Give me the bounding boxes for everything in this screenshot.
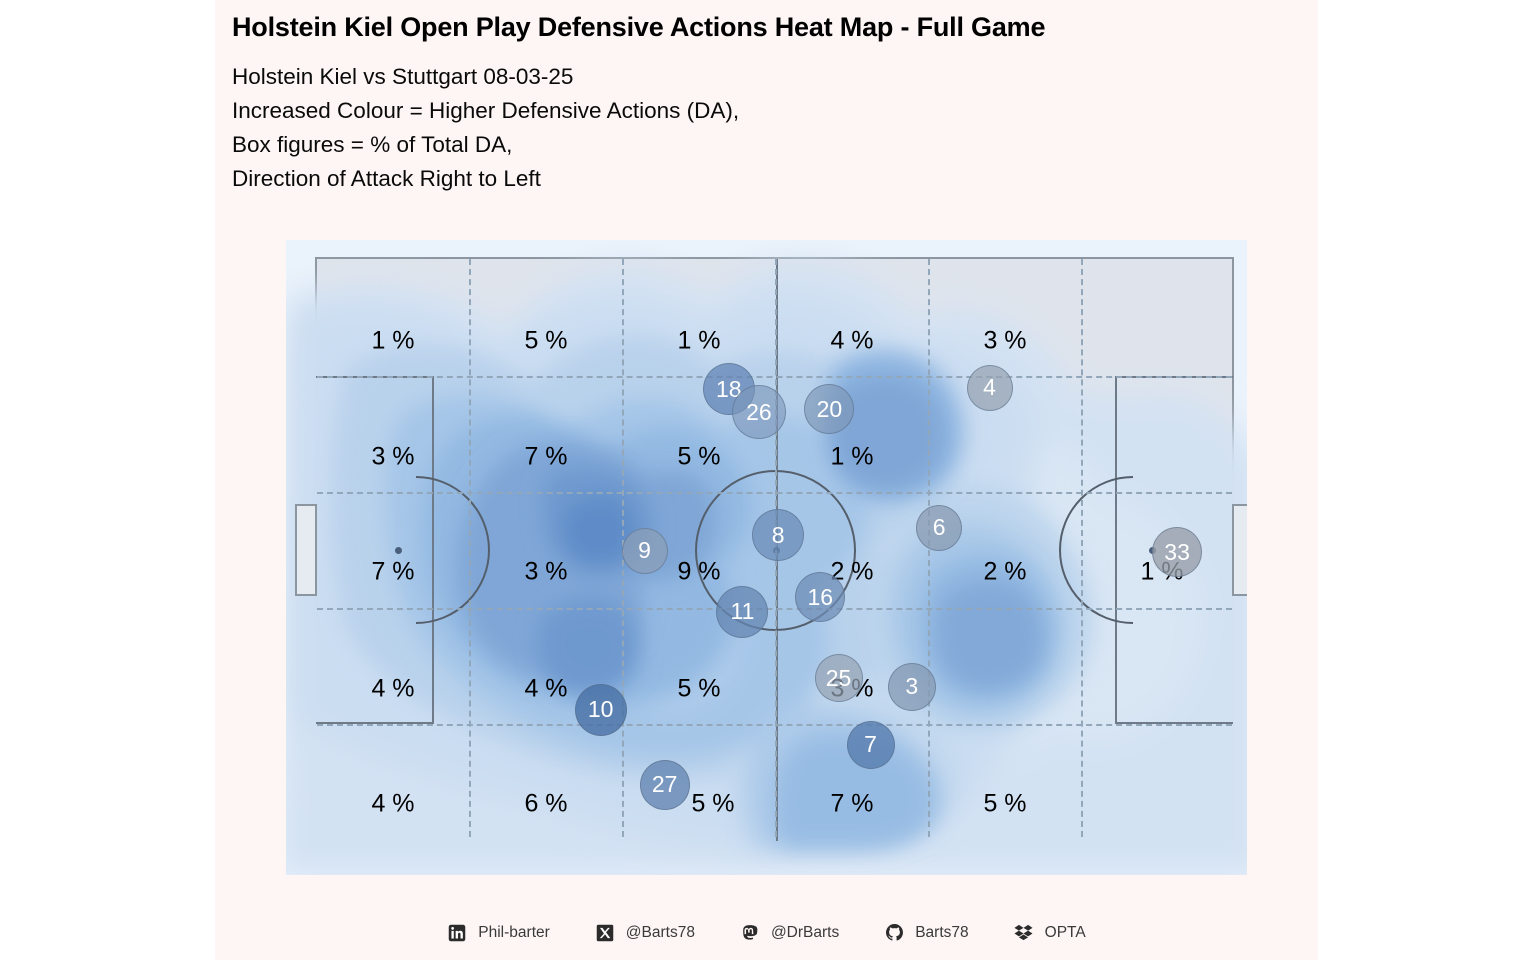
cell-pct-r0c1: 5 % <box>524 327 567 356</box>
footer-item-mastodon[interactable]: @DrBarts <box>740 923 884 943</box>
subtitle-block: Holstein Kiel vs Stuttgart 08-03-25 Incr… <box>232 60 1132 196</box>
player-marker-27[interactable]: 27 <box>640 760 690 810</box>
player-number-11: 11 <box>731 600 755 623</box>
footer-label-github: Barts78 <box>915 924 968 942</box>
linkedin-icon[interactable] <box>447 923 467 943</box>
subtitle-line-2: Increased Colour = Higher Defensive Acti… <box>232 94 1132 128</box>
cell-pct-r2c0: 7 % <box>371 558 414 587</box>
cell-pct-r0c3: 4 % <box>830 327 873 356</box>
footer-label-linkedin: Phil-barter <box>478 924 550 942</box>
cell-pct-r4c4: 5 % <box>983 790 1026 819</box>
cell-pct-r1c1: 7 % <box>524 443 567 472</box>
player-number-9: 9 <box>638 539 651 562</box>
cell-pct-r4c3: 7 % <box>830 790 873 819</box>
footer-label-opta: OPTA <box>1045 924 1086 942</box>
player-number-4: 4 <box>983 376 996 399</box>
x-twitter-icon[interactable] <box>595 923 615 943</box>
grid-line-v-5 <box>1081 259 1083 837</box>
player-number-10: 10 <box>588 698 614 721</box>
subtitle-line-1: Holstein Kiel vs Stuttgart 08-03-25 <box>232 60 1132 94</box>
footer-social-bar: Phil-barter @Barts78 @DrBarts Barts78 OP <box>215 905 1318 960</box>
left-goal <box>295 504 317 596</box>
cell-pct-r3c1: 4 % <box>524 675 567 704</box>
right-goal <box>1232 504 1247 596</box>
player-number-26: 26 <box>746 401 772 424</box>
player-marker-20[interactable]: 20 <box>804 384 854 434</box>
player-number-16: 16 <box>807 586 833 609</box>
player-marker-6[interactable]: 6 <box>916 505 962 551</box>
player-marker-4[interactable]: 4 <box>967 365 1013 411</box>
player-marker-33[interactable]: 33 <box>1152 527 1202 577</box>
player-number-25: 25 <box>826 667 852 690</box>
grid-line-h-2 <box>317 492 1232 494</box>
page-title: Holstein Kiel Open Play Defensive Action… <box>232 12 1302 43</box>
left-penalty-spot <box>395 547 402 554</box>
cell-pct-r2c2: 9 % <box>677 558 720 587</box>
footer-label-x: @Barts78 <box>626 924 695 942</box>
footer-item-linkedin[interactable]: Phil-barter <box>447 923 595 943</box>
cell-pct-r2c1: 3 % <box>524 558 567 587</box>
player-marker-26[interactable]: 26 <box>732 385 786 439</box>
github-icon[interactable] <box>884 923 904 943</box>
subtitle-line-3: Box figures = % of Total DA, <box>232 128 1132 162</box>
cell-pct-r0c4: 3 % <box>983 327 1026 356</box>
player-number-33: 33 <box>1164 541 1190 564</box>
player-number-6: 6 <box>933 516 946 539</box>
cell-pct-r3c0: 4 % <box>371 675 414 704</box>
footer-item-x[interactable]: @Barts78 <box>595 923 740 943</box>
dropbox-icon[interactable] <box>1014 923 1034 943</box>
player-marker-10[interactable]: 10 <box>575 684 627 736</box>
player-number-8: 8 <box>772 524 785 547</box>
cell-pct-r4c2: 5 % <box>691 790 734 819</box>
cell-pct-r3c2: 5 % <box>677 675 720 704</box>
subtitle-line-4: Direction of Attack Right to Left <box>232 162 1132 196</box>
footer-item-github[interactable]: Barts78 <box>884 923 1013 943</box>
cell-pct-r1c0: 3 % <box>371 443 414 472</box>
cell-pct-r4c0: 4 % <box>371 790 414 819</box>
football-pitch: 1 % 5 % 1 % 4 % 3 % 3 % 7 % 5 % 1 % 7 % … <box>315 257 1234 839</box>
player-marker-7[interactable]: 7 <box>847 721 895 769</box>
cell-pct-r0c0: 1 % <box>371 327 414 356</box>
footer-item-opta[interactable]: OPTA <box>1014 923 1086 943</box>
player-number-27: 27 <box>652 773 678 796</box>
cell-pct-r0c2: 1 % <box>677 327 720 356</box>
player-number-3: 3 <box>905 675 918 698</box>
player-marker-8[interactable]: 8 <box>752 509 804 561</box>
cell-pct-r1c3: 1 % <box>830 443 873 472</box>
player-marker-25[interactable]: 25 <box>815 654 863 702</box>
player-marker-9[interactable]: 9 <box>622 528 668 574</box>
player-marker-16[interactable]: 16 <box>795 572 845 622</box>
cell-pct-r1c2: 5 % <box>677 443 720 472</box>
cell-pct-r4c1: 6 % <box>524 790 567 819</box>
grid-line-h-3 <box>317 608 1232 610</box>
player-number-20: 20 <box>817 398 843 421</box>
figure-canvas: Holstein Kiel Open Play Defensive Action… <box>215 0 1318 960</box>
footer-label-mastodon: @DrBarts <box>771 924 839 942</box>
grid-line-h-4 <box>317 724 1232 726</box>
player-marker-11[interactable]: 11 <box>716 586 768 638</box>
cell-pct-r2c4: 2 % <box>983 558 1026 587</box>
player-number-7: 7 <box>864 733 877 756</box>
mastodon-icon[interactable] <box>740 923 760 943</box>
player-marker-3[interactable]: 3 <box>888 663 936 711</box>
heatmap-container: 1 % 5 % 1 % 4 % 3 % 3 % 7 % 5 % 1 % 7 % … <box>286 240 1247 875</box>
grid-line-v-1 <box>469 259 471 837</box>
grid-line-h-1 <box>317 376 1232 378</box>
